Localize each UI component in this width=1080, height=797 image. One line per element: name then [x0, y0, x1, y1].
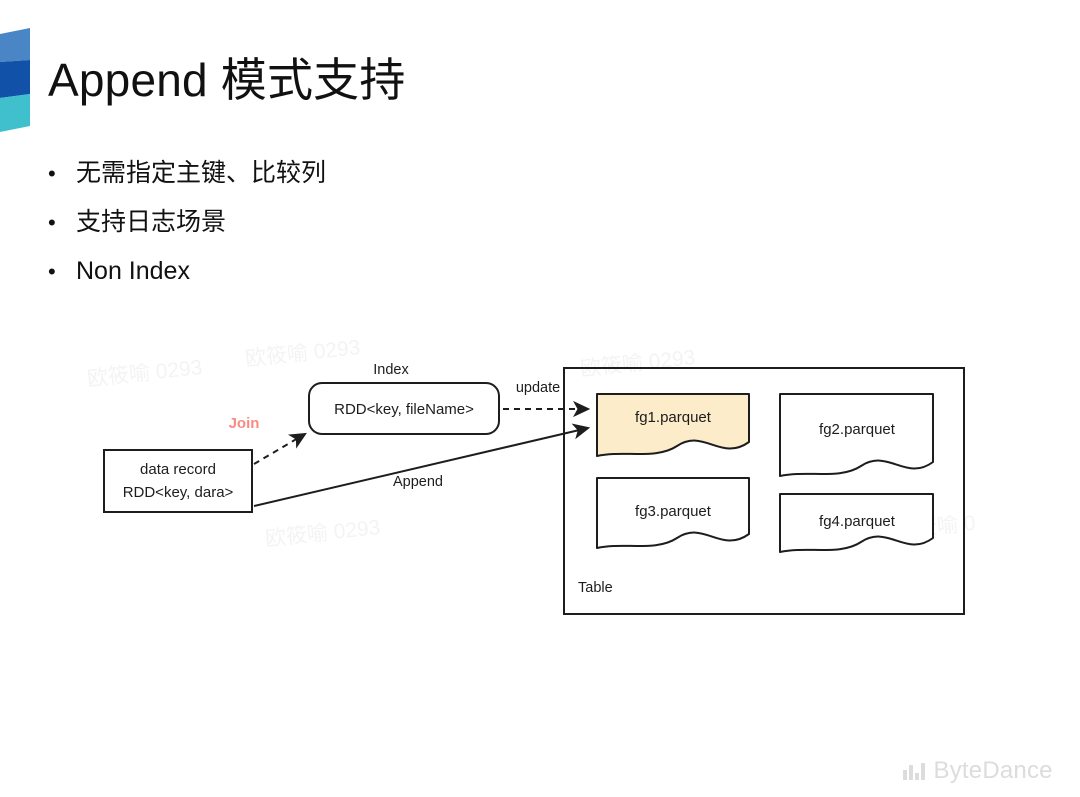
watermark: 欧筱喻 0293: [244, 338, 361, 371]
brand-band-middle: [0, 60, 30, 98]
list-item: • 支持日志场景: [48, 207, 608, 256]
parquet-file-label: fg1.parquet: [635, 409, 712, 426]
parquet-file-fg4[interactable]: fg4.parquet: [780, 494, 933, 552]
list-item: • Non Index: [48, 256, 608, 305]
join-label: Join: [229, 415, 260, 432]
join-arrow: [254, 434, 305, 464]
bytedance-logo: ByteDance: [903, 757, 1053, 785]
bytedance-bars-icon: [903, 763, 925, 780]
parquet-file-label: fg2.parquet: [819, 421, 896, 438]
bullet-marker-icon: •: [48, 212, 76, 234]
bullet-marker-icon: •: [48, 163, 76, 185]
append-label: Append: [393, 474, 443, 490]
bullet-text: Non Index: [76, 256, 190, 286]
diagram-svg: 欧筱喻 0293 欧筱喻 0293 欧筱喻 0293 欧筱喻 0293 欧筱喻 …: [76, 338, 976, 628]
data-record-box[interactable]: data record RDD<key, dara>: [104, 450, 252, 512]
data-record-label-line1: data record: [140, 461, 216, 478]
parquet-file-fg3[interactable]: fg3.parquet: [597, 478, 749, 548]
watermark: 欧筱喻 0293: [86, 356, 203, 391]
bytedance-wordmark: ByteDance: [934, 757, 1053, 785]
parquet-file-fg1[interactable]: fg1.parquet: [597, 394, 749, 456]
parquet-file-label: fg3.parquet: [635, 503, 712, 520]
table-label: Table: [578, 580, 613, 596]
bullet-text: 无需指定主键、比较列: [76, 158, 326, 188]
watermark: 欧筱喻 0293: [264, 516, 381, 551]
brand-logo-mark: [0, 28, 36, 132]
data-record-label-line2: RDD<key, dara>: [123, 484, 234, 501]
parquet-file-label: fg4.parquet: [819, 513, 896, 530]
index-box-label: RDD<key, fileName>: [334, 401, 474, 418]
bullet-marker-icon: •: [48, 261, 76, 283]
update-label: update: [516, 380, 560, 396]
architecture-diagram: 欧筱喻 0293 欧筱喻 0293 欧筱喻 0293 欧筱喻 0293 欧筱喻 …: [76, 338, 976, 628]
index-caption-label: Index: [373, 362, 409, 378]
append-arrow: [254, 428, 588, 506]
bullet-text: 支持日志场景: [76, 207, 226, 237]
brand-logo-svg: [0, 28, 36, 132]
page-title: Append 模式支持: [48, 52, 406, 108]
list-item: • 无需指定主键、比较列: [48, 158, 608, 207]
brand-band-top: [0, 28, 30, 62]
bullet-list: • 无需指定主键、比较列 • 支持日志场景 • Non Index: [48, 158, 608, 305]
brand-band-bottom: [0, 94, 30, 132]
parquet-file-fg2[interactable]: fg2.parquet: [780, 394, 933, 476]
index-box[interactable]: RDD<key, fileName>: [309, 383, 499, 434]
